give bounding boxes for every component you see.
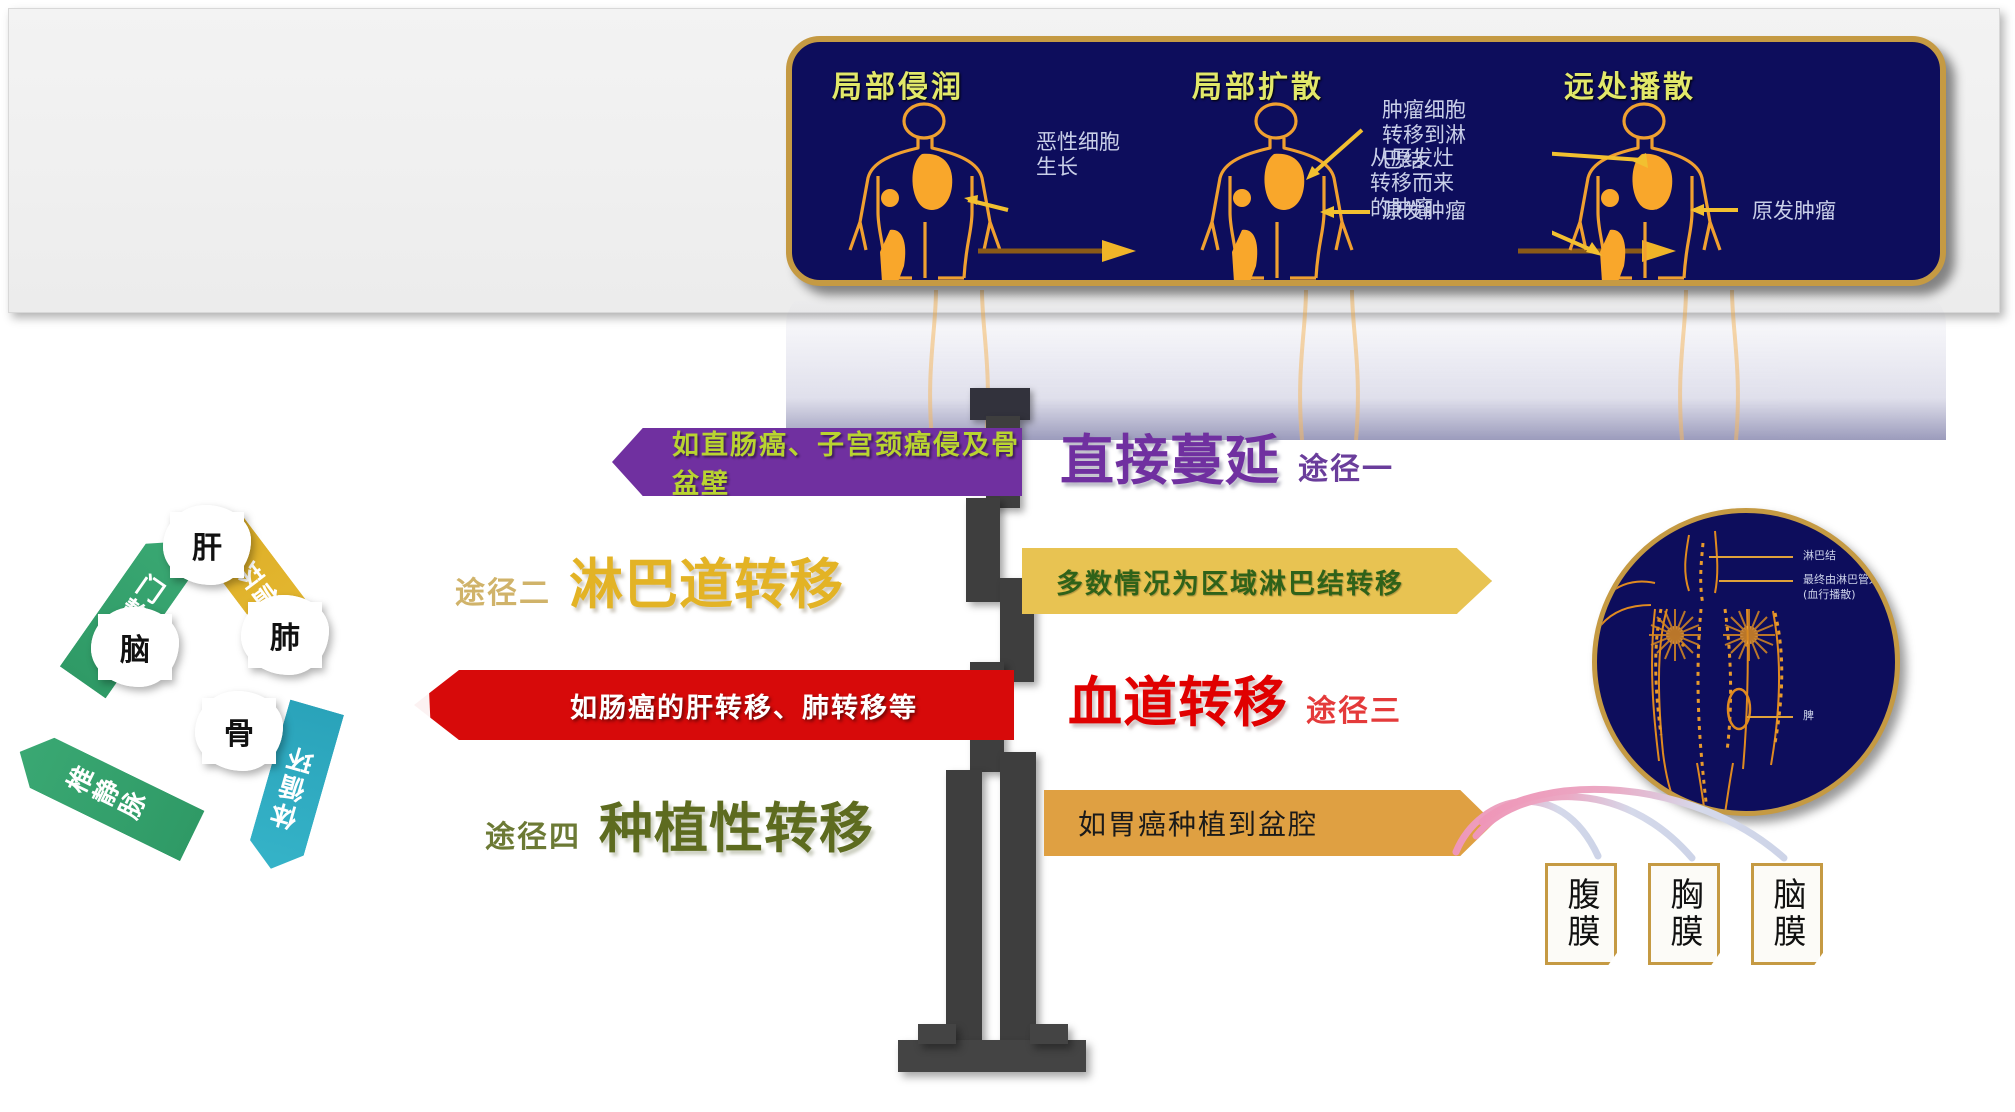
route-1-sign-text: 如直肠癌、子宫颈癌侵及骨盆壁 bbox=[672, 423, 1022, 501]
body-figure-3 bbox=[1552, 102, 1752, 282]
stage-3-note-line2: 转移而来 bbox=[1370, 171, 1454, 196]
membrane-box-peritoneum[interactable]: 腹膜 bbox=[1545, 863, 1617, 965]
route-3-label: 血道转移 途径三 bbox=[1068, 658, 1402, 737]
stage-2-title: 局部扩散 bbox=[1192, 62, 1324, 106]
stage-3-note-line3: 的肿瘤 bbox=[1370, 196, 1433, 221]
metastasis-stages-panel: 局部侵润 恶性细胞 生长 局部扩散 bbox=[786, 36, 1946, 286]
body-figure-2 bbox=[1184, 102, 1384, 282]
route-2-label: 途径二 淋巴道转移 bbox=[455, 540, 844, 619]
bubble-brain[interactable]: 脑 bbox=[98, 614, 172, 680]
signpost-pole-right bbox=[1000, 752, 1036, 1042]
stage-2-note-line1: 肿瘤细胞 bbox=[1382, 98, 1466, 123]
signpost-base-step-left bbox=[918, 1024, 956, 1044]
bubble-lung-label: 肺 bbox=[270, 613, 300, 657]
stage-2-note-line2: 转移到淋 bbox=[1382, 123, 1466, 148]
route-2-sign-text: 多数情况为区域淋巴结转移 bbox=[1056, 562, 1404, 601]
membrane-box-pleura[interactable]: 胸膜 bbox=[1648, 863, 1720, 965]
bubble-liver[interactable]: 肝 bbox=[170, 512, 244, 578]
signpost-base bbox=[898, 1040, 1086, 1072]
stage-1-title: 局部侵润 bbox=[832, 62, 964, 106]
slide-canvas: 局部侵润 恶性细胞 生长 局部扩散 bbox=[0, 0, 2015, 1112]
stage-arrow-1 bbox=[978, 238, 1138, 264]
route-4-sub: 途径四 bbox=[485, 812, 581, 856]
route-4-title: 种植性转移 bbox=[599, 784, 874, 863]
route-1-sub: 途径一 bbox=[1298, 444, 1394, 488]
lymph-node-label: 淋巴结 bbox=[1803, 549, 1836, 562]
route-3-sign-text: 如肠癌的肝转移、肺转移等 bbox=[570, 686, 918, 725]
lymph-duct-label-line2: (血行播散) bbox=[1803, 588, 1856, 601]
bubble-liver-label: 肝 bbox=[192, 523, 222, 567]
route-2-sign[interactable]: 多数情况为区域淋巴结转移 bbox=[1022, 548, 1492, 614]
route-1-sign[interactable]: 如直肠癌、子宫颈癌侵及骨盆壁 bbox=[612, 428, 1022, 496]
membrane-box-meninges-label: 脑膜 bbox=[1763, 877, 1811, 951]
membrane-box-meninges[interactable]: 脑膜 bbox=[1751, 863, 1823, 965]
route-4-sign-text: 如胃癌种植到盆腔 bbox=[1078, 803, 1318, 843]
bubble-bone-label: 骨 bbox=[224, 709, 254, 753]
hematogenous-organ-fan: 门静脉 肺循环 椎静脉 体循环 肝 肺 脑 骨 bbox=[100, 548, 430, 878]
stage-3-note-line1: 从原发灶 bbox=[1370, 146, 1454, 171]
route-4-label: 途径四 种植性转移 bbox=[485, 784, 874, 863]
lymph-duct-label-line1: 最终由淋巴管进入血 bbox=[1803, 573, 1900, 586]
signpost-segment-2 bbox=[966, 498, 1000, 602]
route-3-sub: 途径三 bbox=[1306, 686, 1402, 730]
bubble-bone[interactable]: 骨 bbox=[202, 698, 276, 764]
route-1-title: 直接蔓延 bbox=[1060, 416, 1280, 495]
spleen-label: 脾 bbox=[1803, 709, 1814, 722]
bubble-brain-label: 脑 bbox=[120, 625, 150, 669]
stage-3-title: 远处播散 bbox=[1564, 62, 1696, 106]
bubble-lung[interactable]: 肺 bbox=[248, 602, 322, 668]
route-3-sign[interactable]: 如肠癌的肝转移、肺转移等 bbox=[414, 670, 1014, 740]
signpost-base-step-right bbox=[1030, 1024, 1068, 1044]
stage-1-note-line2: 生长 bbox=[1036, 155, 1078, 180]
route-2-sub: 途径二 bbox=[455, 568, 551, 612]
route-1-label: 直接蔓延 途径一 bbox=[1060, 416, 1394, 495]
membrane-box-pleura-label: 胸膜 bbox=[1660, 877, 1708, 951]
route-2-title: 淋巴道转移 bbox=[569, 540, 844, 619]
stage-3-note-primary: 原发肿瘤 bbox=[1752, 199, 1836, 224]
signpost-pole-left bbox=[946, 770, 982, 1042]
route-3-title: 血道转移 bbox=[1068, 658, 1288, 737]
stage-1-note-line1: 恶性细胞 bbox=[1036, 130, 1120, 155]
membrane-box-peritoneum-label: 腹膜 bbox=[1557, 877, 1605, 951]
